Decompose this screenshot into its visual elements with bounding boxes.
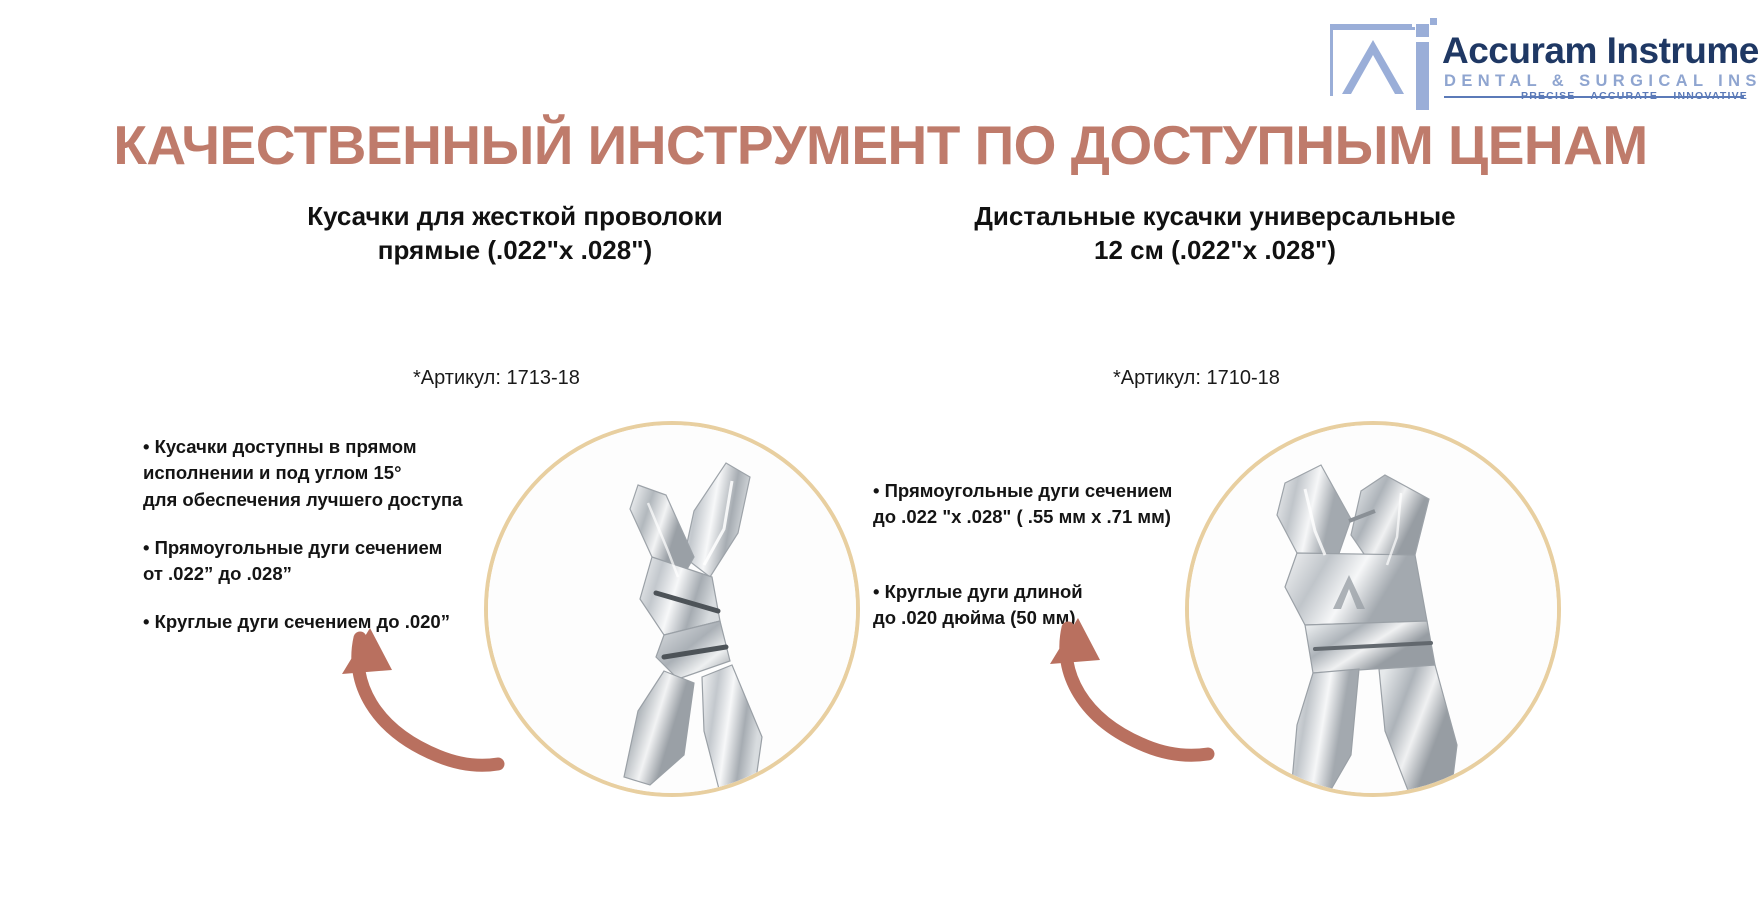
ai-monogram-icon [1330, 24, 1438, 96]
brand-logo: Accuram Instruments DENTAL & SURGICAL IN… [1330, 10, 1750, 102]
product-article-right: *Артикул: 1710-18 [1113, 367, 1280, 390]
product-heading-left-line1: Кусачки для жесткой проволоки [230, 200, 800, 234]
product-heading-right-line2: 12 см (.022"х .028") [905, 234, 1525, 268]
product-heading-left-line2: прямые (.022"х .028") [230, 234, 800, 268]
page-title: КАЧЕСТВЕННЫЙ ИНСТРУМЕНТ ПО ДОСТУПНЫМ ЦЕН… [0, 113, 1761, 177]
curved-arrow-icon-right [1040, 608, 1215, 773]
list-item: • Прямоугольные дуги сечением до .022 "х… [873, 478, 1203, 531]
logo-subtitle: DENTAL & SURGICAL INSTRUMENTS [1444, 72, 1761, 91]
curved-arrow-icon-left [330, 620, 505, 785]
product-article-left: *Артикул: 1713-18 [413, 367, 580, 390]
product-heading-right-line1: Дистальные кусачки универсальные [905, 200, 1525, 234]
distal-end-cutter-pliers-photo [1189, 425, 1557, 793]
product-photo-left [484, 421, 860, 797]
promo-banner-page: Accuram Instruments DENTAL & SURGICAL IN… [0, 0, 1761, 921]
product-heading-left: Кусачки для жесткой проволоки прямые (.0… [230, 200, 800, 268]
wire-cutter-pliers-photo [488, 425, 856, 793]
product-bullets-left: • Кусачки доступны в прямом исполнении и… [143, 434, 488, 636]
logo-company-name: Accuram Instruments [1442, 30, 1761, 72]
logo-tagline: PRECISE – ACCURATE – INNOVATIVE [1521, 90, 1748, 102]
list-item: • Прямоугольные дуги сечением от .022” д… [143, 535, 488, 588]
list-item: • Кусачки доступны в прямом исполнении и… [143, 434, 488, 513]
product-photo-right [1185, 421, 1561, 797]
product-heading-right: Дистальные кусачки универсальные 12 см (… [905, 200, 1525, 268]
